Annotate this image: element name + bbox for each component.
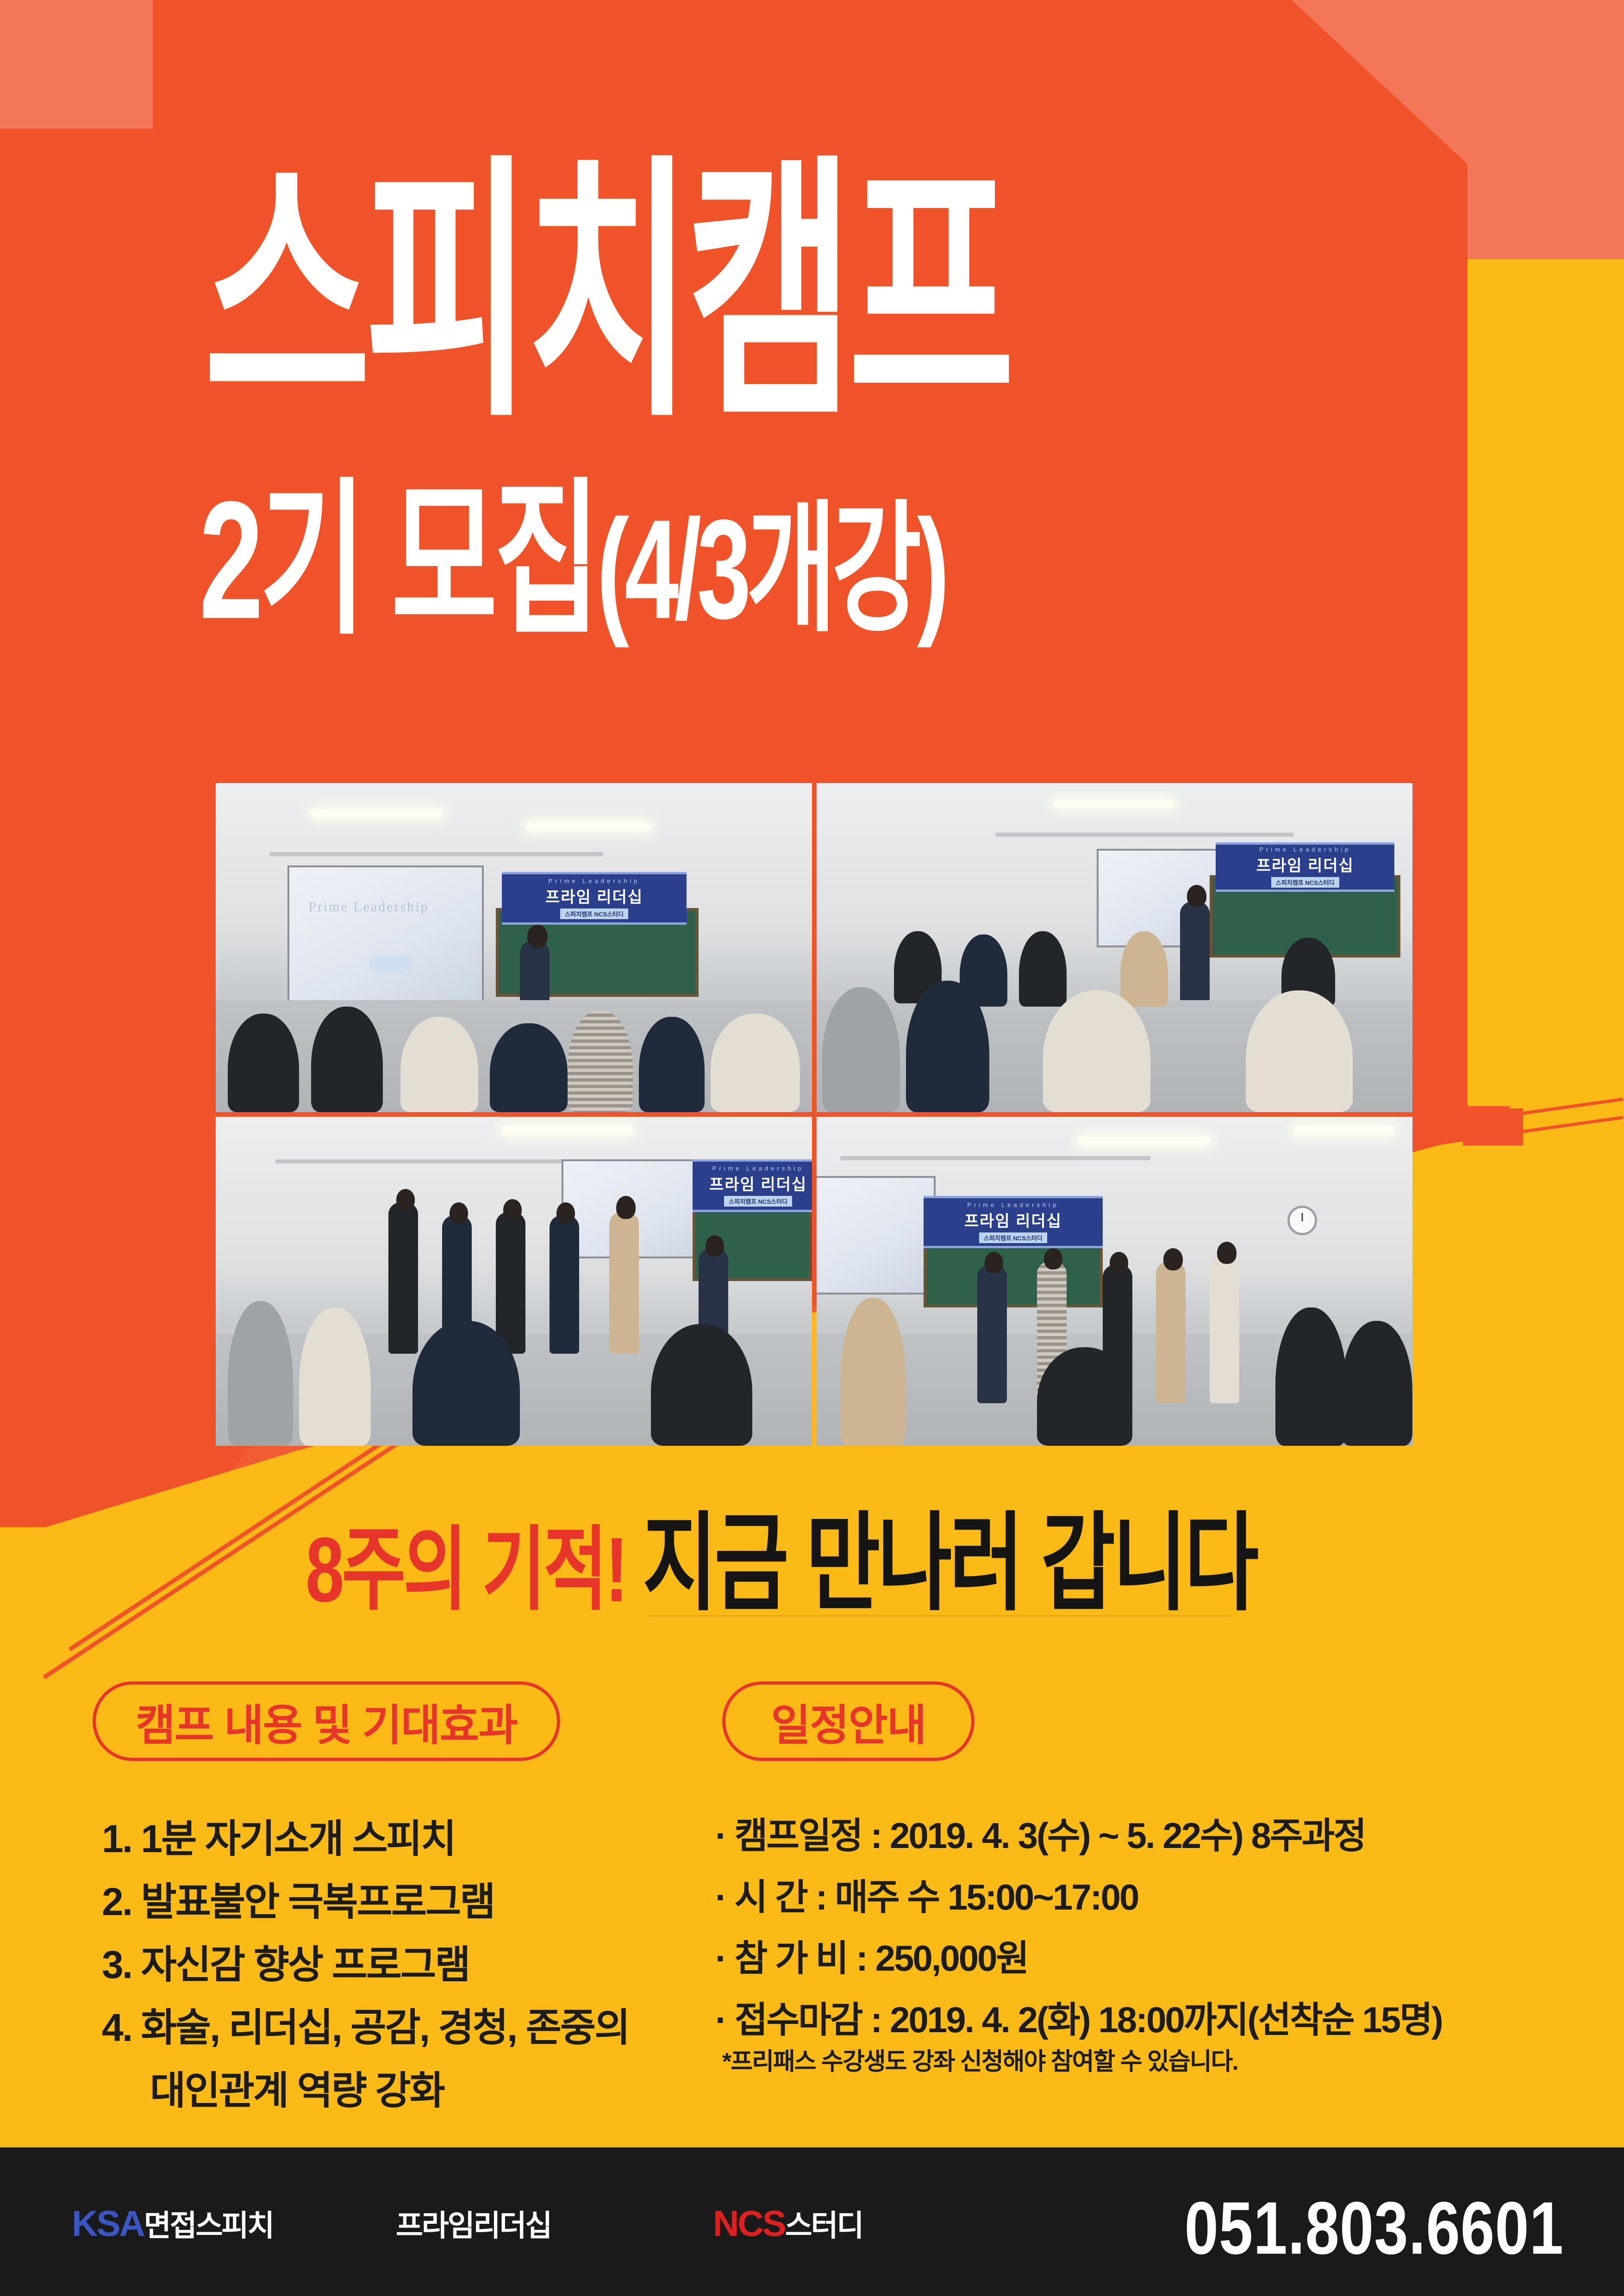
ceiling-lamp-icon	[502, 1126, 633, 1135]
prime-leadership-banner-2: Prime Leadership 프라임 리더십 스피치캠프 NCS스터디	[1216, 842, 1394, 892]
prime-leadership-banner-4: Prime Leadership 프라임 리더십 스피치캠프 NCS스터디	[924, 1196, 1102, 1249]
standing-figure	[1210, 1255, 1239, 1403]
logo-word-myeonjeop: 면접스피치	[144, 2209, 273, 2242]
standing-head	[1163, 1248, 1183, 1270]
schedule-bullet: ·	[715, 1815, 726, 1856]
schedule-value: 2019. 4. 2(화) 18:00까지(선착순 15명)	[890, 1999, 1442, 2040]
banner-subtitle: 스피치캠프 NCS스터디	[979, 1232, 1047, 1243]
seated-figure	[299, 1307, 371, 1446]
seated-figure	[1037, 1347, 1132, 1446]
standing-figure	[496, 1212, 525, 1354]
audience-figure	[639, 1017, 705, 1112]
banner-subtitle: 스피치캠프 NCS스터디	[1271, 877, 1339, 888]
screen-text: Prime Leadership	[308, 899, 429, 915]
page-title-line2: 2기 모집(4/3개강)	[199, 477, 945, 644]
schedule-value: 매주 수 15:00~17:00	[835, 1877, 1138, 1917]
standing-head	[450, 1202, 468, 1224]
standing-head	[396, 1189, 415, 1210]
ceiling-lamp-icon	[311, 809, 442, 818]
ceiling-rail	[269, 852, 603, 856]
prime-leadership-banner-3: Prime Leadership 프라임 리더십 스피치캠프 NCS스터디	[693, 1159, 812, 1212]
section-header-camp-content: 캠프 내용 및 기대효과	[93, 1681, 560, 1761]
list-item-text: 자신감 향상 프로그램	[141, 1943, 469, 1986]
schedule-row: · 접수마감 : 2019. 4. 2(화) 18:00까지(선착순 15명)	[715, 1989, 1562, 2051]
speaker-figure-2	[1180, 902, 1210, 1007]
section-header-schedule: 일정안내	[722, 1681, 974, 1761]
photo-group-standing: Prime Leadership 프라임 리더십 스피치캠프 NCS스터디	[216, 1117, 812, 1446]
banner-korean-text: 프라임 리더십	[964, 1208, 1062, 1231]
background-yellow-right-strip	[1463, 259, 1624, 1166]
banner-korean-text: 프라임 리더십	[545, 884, 643, 907]
tagline-divider	[648, 1615, 1231, 1617]
schedule-label: 접수마감	[735, 1989, 862, 2051]
logo-word-prime-leadership: 프라임리더십	[396, 2209, 551, 2242]
schedule-row: · 참 가 비 : 250,000원	[715, 1928, 1562, 1989]
tagline-red-text: 8주의 기적!	[306, 1496, 626, 1628]
schedule-label: 참 가 비	[735, 1928, 848, 1989]
list-item-number: 1.	[102, 1817, 131, 1860]
logo-ncs-study[interactable]: NCS스터디	[713, 2202, 862, 2245]
list-item-number: 3.	[102, 1943, 131, 1986]
logo-prime-leadership[interactable]: 프라임리더십	[396, 2202, 551, 2245]
standing-figure	[1156, 1262, 1186, 1403]
audience-figure	[311, 1007, 383, 1112]
prime-leadership-banner-1: Prime Leadership 프라임 리더십 스피치캠프 NCS스터디	[502, 872, 687, 925]
schedule-list: · 캠프일정 : 2019. 4. 3(수) ~ 5. 22수) 8주과정 · …	[715, 1805, 1562, 2050]
logo-ksa-interview-speech[interactable]: KSA면접스피치	[72, 2202, 273, 2245]
standing-figure	[550, 1215, 579, 1354]
photo-presentation-line: Prime Leadership 프라임 리더십 스피치캠프 NCS스터디	[817, 1117, 1413, 1446]
page-title-line2-main: 2기 모집	[199, 467, 597, 654]
standing-figure	[609, 1212, 639, 1354]
standing-head	[706, 1235, 724, 1257]
list-item: 4. 화술, 리더십, 공감, 경청, 존중의 대인관계 역량 강화	[102, 1996, 694, 2122]
standing-head	[1044, 1248, 1062, 1269]
ceiling-lamp-icon	[1079, 1137, 1210, 1145]
banner-english-text: Prime Leadership	[549, 877, 640, 884]
contact-phone-number[interactable]: 051.803.6601	[1185, 2185, 1564, 2271]
camp-content-list: 1. 1분 자기소개 스피치 2. 발표불안 극복프로그램 3. 자신감 향상 …	[102, 1807, 694, 2122]
schedule-footnote: *프리패스 수강생도 강좌 신청해야 참여할 수 있습니다.	[722, 2042, 1238, 2077]
list-item-number: 2.	[102, 1880, 131, 1923]
foreground-figure	[822, 987, 899, 1112]
ceiling-rail	[840, 1156, 1150, 1160]
standing-figure	[977, 1265, 1007, 1403]
speaker-head-2	[1187, 885, 1206, 907]
schedule-bullet: ·	[715, 1938, 726, 1979]
foreground-figure	[1043, 990, 1150, 1112]
seated-figure	[412, 1321, 520, 1446]
page-title-line2-paren: (4/3개강)	[597, 490, 945, 648]
standing-head	[616, 1196, 636, 1219]
seated-figure	[840, 1298, 906, 1446]
poster-root: 스피치캠프 2기 모집(4/3개강) Prime Leadership Prim…	[0, 0, 1624, 2296]
speaker-head-1	[527, 925, 548, 948]
list-item: 3. 자신감 향상 프로그램	[102, 1933, 694, 1996]
audience-figure	[490, 1023, 567, 1112]
ceiling-lamp-icon	[1293, 1126, 1395, 1135]
wall-clock-icon	[1287, 1206, 1317, 1235]
banner-english-text: Prime Leadership	[712, 1165, 804, 1172]
banner-korean-text: 프라임 리더십	[1256, 853, 1354, 876]
ceiling-lamp-icon	[526, 822, 651, 831]
banner-english-text: Prime Leadership	[1259, 846, 1351, 853]
list-item: 2. 발표불안 극복프로그램	[102, 1870, 694, 1933]
banner-korean-text: 프라임 리더십	[709, 1172, 807, 1195]
seated-figure	[1120, 931, 1168, 1007]
standing-figure	[388, 1202, 418, 1354]
photo-grid: Prime Leadership Prime Leadership 프라임 리더…	[216, 783, 1412, 1446]
list-item-text: 1분 자기소개 스피치	[141, 1817, 455, 1860]
tagline-black-text: 지금 만나러 갑니다	[643, 1477, 1256, 1631]
standing-head	[556, 1202, 575, 1224]
schedule-separator: :	[862, 1999, 890, 2040]
photo-circle-discussion: Prime Leadership 프라임 리더십 스피치캠프 NCS스터디	[817, 783, 1413, 1112]
tagline: 8주의 기적!지금 만나러 갑니다	[306, 1514, 1256, 1631]
photo-lecture-front: Prime Leadership Prime Leadership 프라임 리더…	[216, 783, 812, 1112]
schedule-separator: :	[807, 1877, 835, 1917]
schedule-value: 2019. 4. 3(수) ~ 5. 22수) 8주과정	[890, 1815, 1365, 1856]
projector-screen-1: Prime Leadership	[287, 865, 484, 1004]
ceiling-rail	[275, 1159, 603, 1164]
logo-mark-ncs: NCS	[713, 2203, 785, 2244]
standing-head	[503, 1199, 522, 1220]
projector-screen-4	[817, 1176, 936, 1294]
schedule-label: 시 간	[735, 1867, 807, 1928]
butterfly-icon	[370, 951, 412, 977]
schedule-separator: :	[862, 1815, 890, 1856]
page-title-line1: 스피치캠프	[204, 164, 1009, 422]
schedule-bullet: ·	[715, 1877, 726, 1917]
schedule-bullet: ·	[715, 1999, 726, 2040]
list-item: 1. 1분 자기소개 스피치	[102, 1807, 694, 1870]
list-item-continuation: 대인관계 역량 강화	[126, 2059, 694, 2122]
ceiling-lamp-icon	[1055, 800, 1174, 808]
audience-figure	[400, 1017, 478, 1112]
standing-head	[1217, 1242, 1237, 1264]
chalkboard-4	[924, 1242, 1102, 1307]
logo-word-study: 스터디	[785, 2209, 863, 2242]
schedule-row: · 시 간 : 매주 수 15:00~17:00	[715, 1867, 1562, 1928]
list-item-text: 발표불안 극복프로그램	[141, 1880, 494, 1923]
schedule-separator: :	[847, 1938, 875, 1979]
logo-mark-ksa: KSA	[72, 2203, 144, 2244]
standing-head	[1110, 1252, 1128, 1273]
banner-english-text: Prime Leadership	[967, 1201, 1059, 1208]
schedule-row: · 캠프일정 : 2019. 4. 3(수) ~ 5. 22수) 8주과정	[715, 1805, 1562, 1867]
schedule-label: 캠프일정	[735, 1805, 862, 1867]
list-item-number: 4.	[102, 2006, 131, 2049]
banner-subtitle: 스피치캠프 NCS스터디	[724, 1196, 792, 1207]
banner-subtitle: 스피치캠프 NCS스터디	[560, 908, 628, 919]
seated-figure	[651, 1324, 752, 1446]
schedule-value: 250,000원	[875, 1938, 1028, 1979]
list-item-text: 화술, 리더십, 공감, 경청, 존중의	[141, 2006, 629, 2049]
audience-figure	[711, 1014, 800, 1112]
standing-head	[985, 1252, 1003, 1273]
ceiling-rail	[995, 833, 1293, 837]
